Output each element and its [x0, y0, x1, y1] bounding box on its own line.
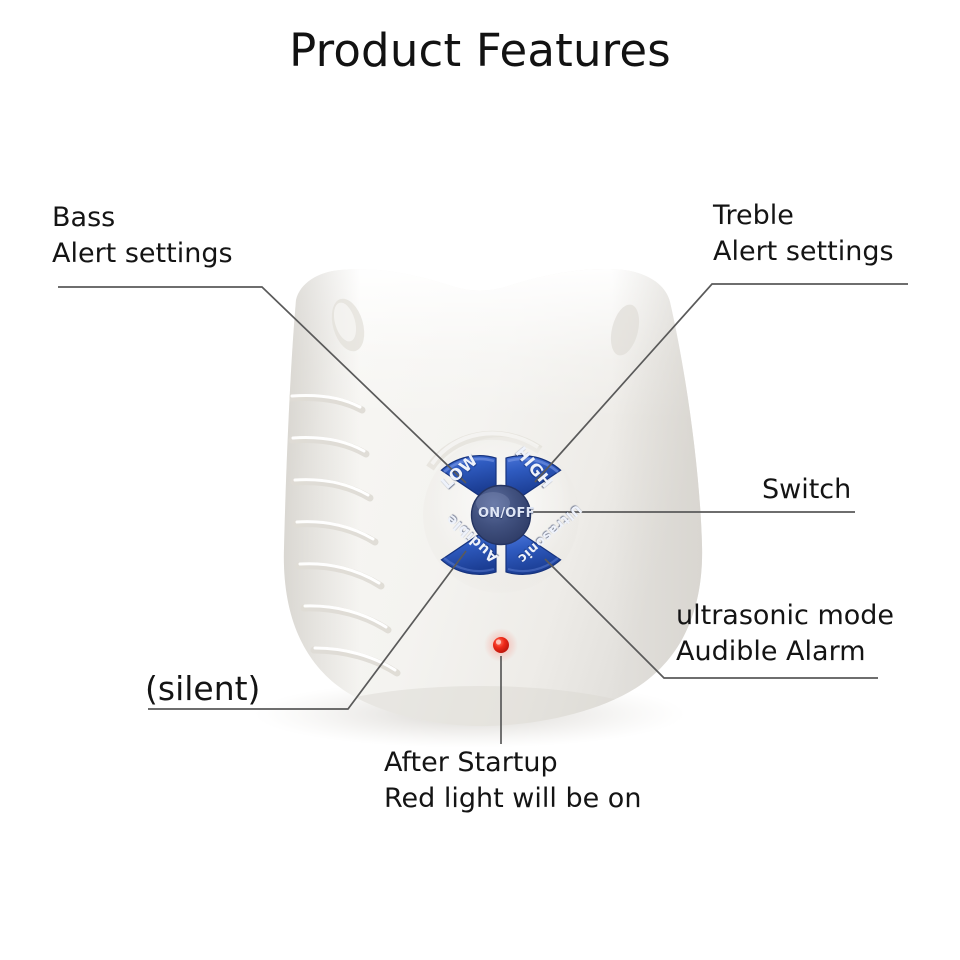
- callout-bass-line-1: Bass: [52, 200, 233, 236]
- callout-bass: Bass Alert settings: [52, 200, 233, 272]
- callout-switch-line-1: Switch: [762, 472, 851, 508]
- callout-silent: (silent): [145, 667, 260, 711]
- callout-silent-line-1: (silent): [145, 667, 260, 711]
- callout-treble: Treble Alert settings: [713, 198, 894, 270]
- callout-treble-line-1: Treble: [713, 198, 894, 234]
- callout-bass-line-2: Alert settings: [52, 236, 233, 272]
- callout-modes: ultrasonic mode Audible Alarm: [676, 598, 894, 670]
- callout-modes-line-2: Audible Alarm: [676, 634, 894, 670]
- callout-treble-line-2: Alert settings: [713, 234, 894, 270]
- callout-startup-line-1: After Startup: [384, 745, 641, 781]
- product-features-diagram: Product Features: [0, 0, 960, 960]
- callout-startup-line-2: Red light will be on: [384, 781, 641, 817]
- callout-modes-line-1: ultrasonic mode: [676, 598, 894, 634]
- callout-switch: Switch: [762, 472, 851, 508]
- callout-startup: After Startup Red light will be on: [384, 745, 641, 817]
